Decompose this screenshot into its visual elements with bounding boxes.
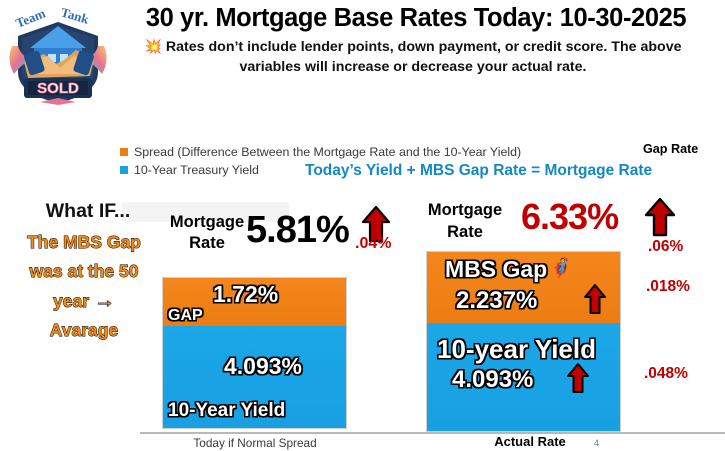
right-delta-gap: .018% [646, 278, 690, 296]
left-gap-label: GAP [168, 307, 203, 325]
right-up-arrow-icon [644, 197, 676, 242]
what-if-callout: The MBS Gap was at the 50 year → Avarage [6, 228, 162, 345]
gap-rate-header: Gap Rate [643, 142, 698, 156]
subtitle-text: Rates don’t include lender points, down … [166, 39, 682, 75]
collision-burst-icon: 💥 [145, 38, 162, 54]
formula-text: Today’s Yield + MBS Gap Rate = Mortgage … [305, 162, 652, 180]
right-arrow-icon: → [94, 289, 115, 312]
right-mortgage-rate-label-line1: Mortgage [405, 199, 525, 221]
legend-label-yield: 10-Year Treasury Yield [134, 163, 259, 177]
legend-label-spread: Spread (Difference Between the Mortgage … [134, 145, 521, 159]
right-delta-yield: .048% [644, 365, 688, 383]
legend-swatch-yield [120, 166, 128, 174]
right-x-axis-label: Actual Rate [455, 434, 605, 449]
page-subtitle: 💥 Rates don’t include lender points, dow… [128, 36, 698, 77]
what-if-line-3: year [53, 291, 89, 311]
left-yield-label: 10-Year Yield [168, 400, 285, 422]
right-yield-up-arrow-icon [566, 362, 590, 399]
page-number: 4 [594, 438, 599, 448]
right-mortgage-rate-value: 6.33% [521, 196, 618, 238]
left-x-axis-label: Today if Normal Spread [175, 436, 335, 450]
left-gap-value: 1.72% [213, 281, 278, 308]
left-delta-value: .04% [355, 235, 391, 253]
superhero-icon: 🦸 [549, 256, 573, 280]
legend-swatch-spread [120, 148, 128, 156]
what-if-line-4: Avarage [6, 316, 162, 345]
right-mortgage-rate-label-line2: Rate [405, 221, 525, 243]
right-gap-up-arrow-icon [583, 283, 607, 320]
svg-text:Team: Team [14, 5, 48, 30]
svg-text:SOLD: SOLD [37, 80, 79, 97]
chart-baseline-axis [140, 432, 725, 434]
what-if-heading: What IF... [18, 200, 158, 223]
left-mortgage-rate-value: 5.81% [246, 209, 349, 252]
what-if-line-3-row: year → [6, 286, 162, 316]
right-yield-label: 10-year Yield [437, 334, 596, 365]
right-mortgage-rate-label: Mortgage Rate [405, 199, 525, 243]
what-if-line-2: was at the 50 [6, 257, 162, 286]
what-if-line-1: The MBS Gap [6, 228, 162, 257]
right-gap-value: 2.237% [456, 287, 537, 315]
right-delta-total: .06% [648, 238, 683, 256]
left-yield-value: 4.093% [224, 353, 302, 380]
legend-item-spread: Spread (Difference Between the Mortgage … [120, 143, 521, 161]
right-yield-value: 4.093% [452, 366, 533, 394]
team-tank-sold-logo: SOLD Team Tank [4, 2, 112, 106]
slide-canvas: SOLD Team Tank 30 yr. Mortgage Base Rate… [0, 0, 725, 451]
page-title: 30 yr. Mortgage Base Rates Today: 10-30-… [110, 4, 722, 33]
svg-text:Tank: Tank [59, 4, 91, 26]
right-gap-label: MBS Gap [445, 256, 547, 283]
